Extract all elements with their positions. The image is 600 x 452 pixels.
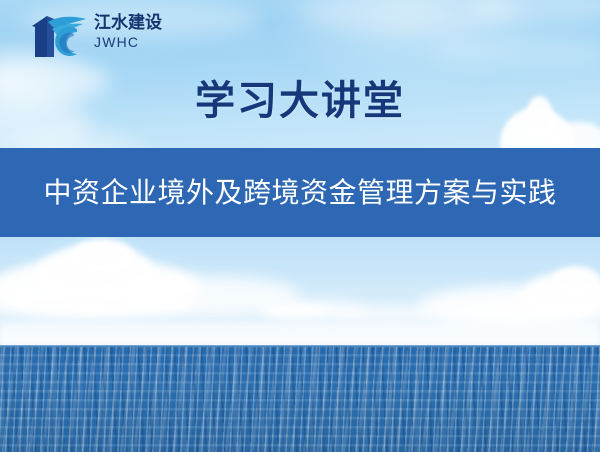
poster-image: 江水建设 JWHC 学习大讲堂 中资企业境外及跨境资金管理方案与实践 bbox=[0, 0, 600, 452]
cloud bbox=[552, 266, 600, 294]
horizon-line bbox=[0, 345, 600, 347]
logo-company-en: JWHC bbox=[94, 34, 172, 50]
subtitle-text: 中资企业境外及跨境资金管理方案与实践 bbox=[43, 176, 556, 210]
subtitle-banner: 中资企业境外及跨境资金管理方案与实践 bbox=[0, 148, 600, 237]
logo-wordmark: 江水建设 JWHC bbox=[94, 13, 172, 59]
cloud bbox=[70, 239, 134, 273]
logo-mark-icon bbox=[28, 13, 90, 59]
page-title: 学习大讲堂 bbox=[0, 74, 600, 128]
horizon-haze bbox=[0, 322, 600, 346]
cloud bbox=[262, 304, 332, 318]
company-logo: 江水建设 JWHC bbox=[28, 11, 168, 63]
ocean bbox=[0, 345, 600, 452]
logo-company-cn: 江水建设 bbox=[94, 13, 172, 33]
cloud-wisp bbox=[430, 34, 600, 68]
